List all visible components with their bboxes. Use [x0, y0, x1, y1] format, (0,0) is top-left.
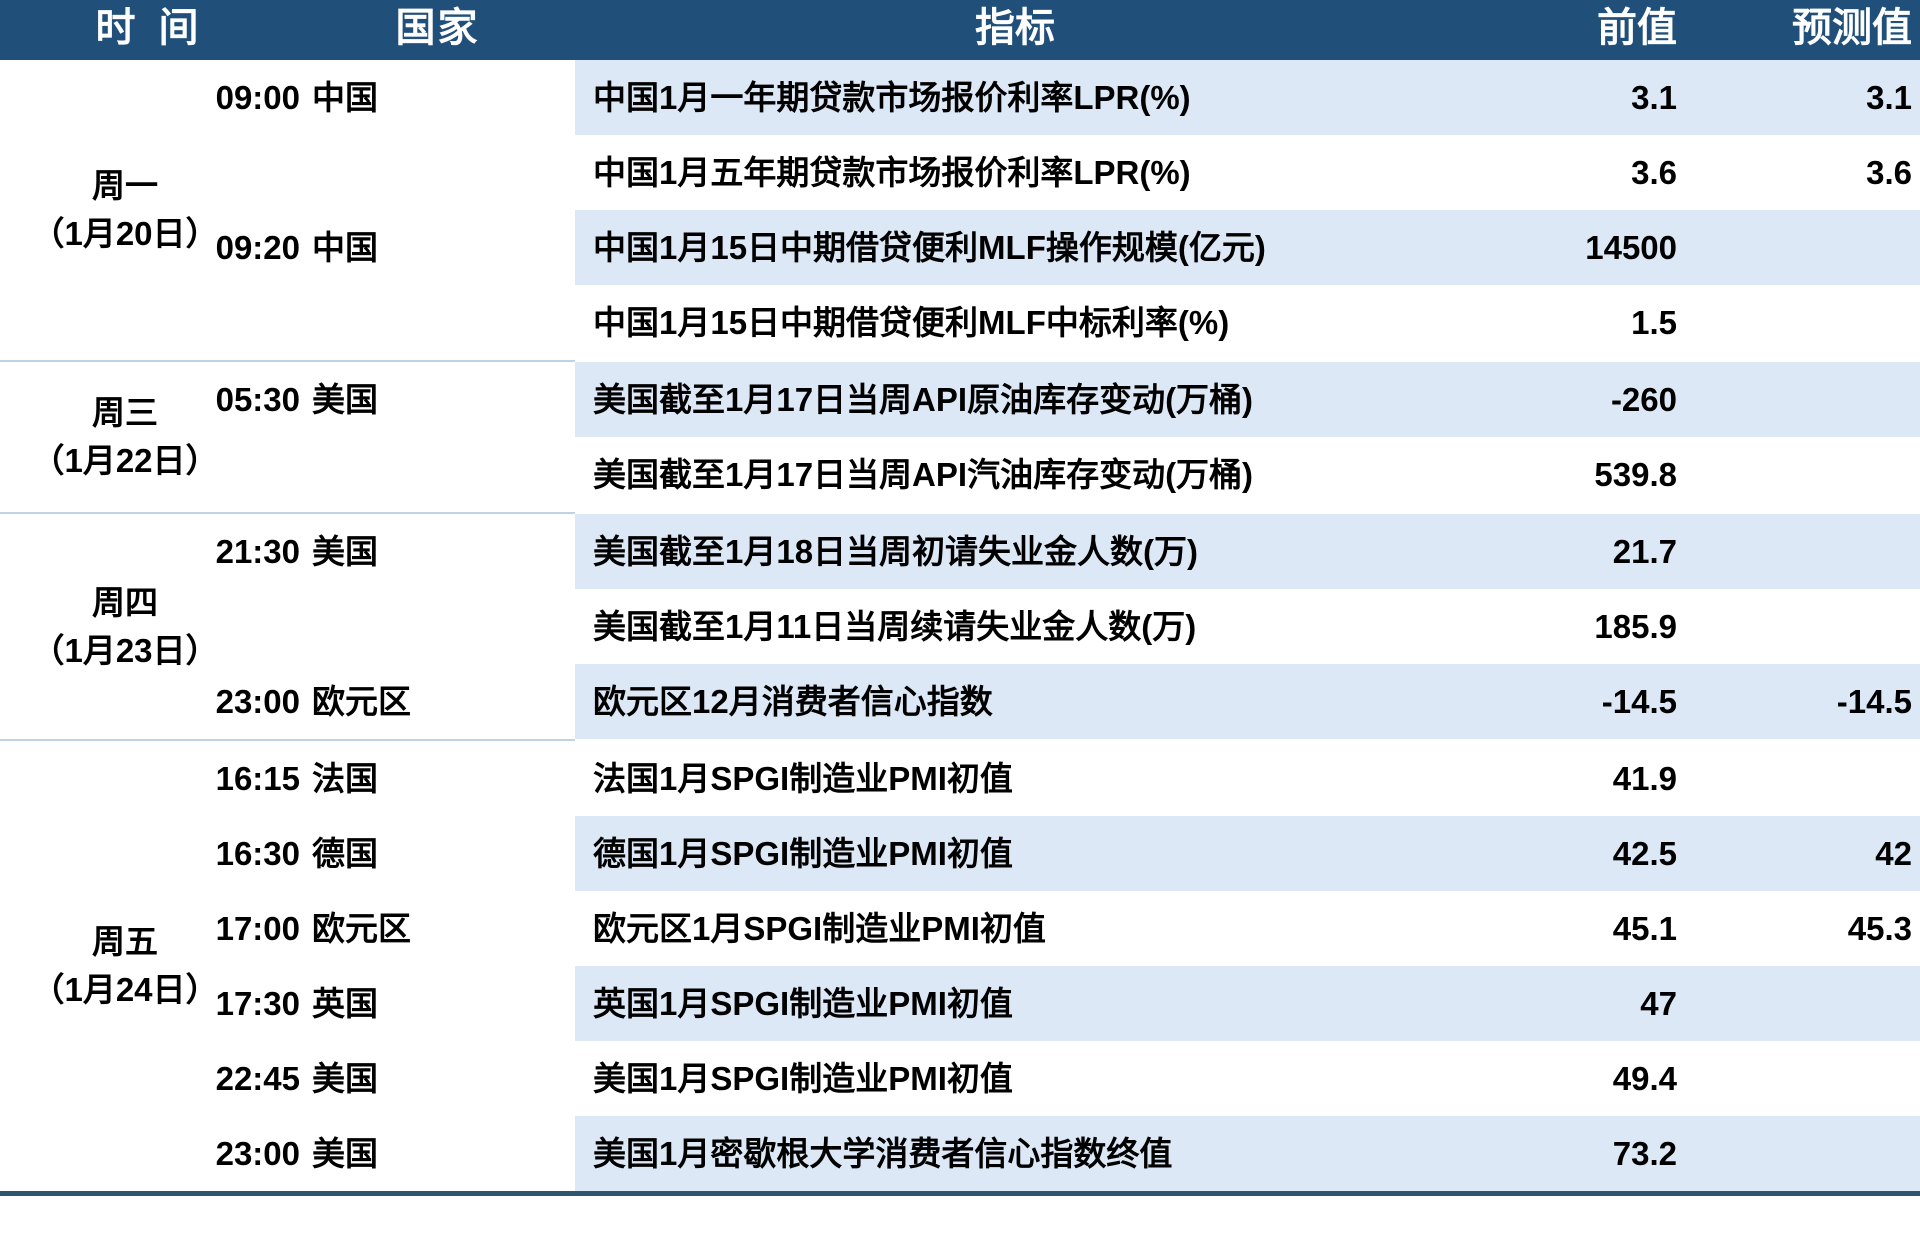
cell-forecast — [1700, 514, 1920, 589]
cell-indicator: 英国1月SPGI制造业PMI初值 — [575, 966, 1455, 1041]
cell-indicator: 美国截至1月17日当周API原油库存变动(万桶) — [575, 362, 1455, 437]
day-label: 周一（1月20日） — [0, 60, 250, 360]
table-row: 23:00美国美国1月密歇根大学消费者信心指数终值73.2 — [0, 1116, 1920, 1191]
cell-previous: 47 — [1455, 966, 1695, 1041]
cell-country — [312, 589, 462, 664]
cell-forecast: 3.1 — [1700, 60, 1920, 135]
table-row: 23:00欧元区欧元区12月消费者信心指数-14.5-14.5 — [0, 664, 1920, 739]
day-label: 周五（1月24日） — [0, 741, 250, 1191]
day-date: （1月24日） — [0, 966, 250, 1014]
table-row: 美国截至1月11日当周续请失业金人数(万)185.9 — [0, 589, 1920, 664]
day-group: 05:30美国美国截至1月17日当周API原油库存变动(万桶)-260美国截至1… — [0, 362, 1920, 512]
day-label: 周四（1月23日） — [0, 514, 250, 739]
day-weekday: 周一 — [0, 162, 250, 210]
cell-country: 欧元区 — [312, 664, 462, 739]
day-weekday: 周五 — [0, 918, 250, 966]
cell-country: 英国 — [312, 966, 462, 1041]
cell-indicator: 欧元区12月消费者信心指数 — [575, 664, 1455, 739]
cell-country: 美国 — [312, 514, 462, 589]
table-row: 09:20中国中国1月15日中期借贷便利MLF操作规模(亿元)14500 — [0, 210, 1920, 285]
cell-indicator: 德国1月SPGI制造业PMI初值 — [575, 816, 1455, 891]
cell-previous: 42.5 — [1455, 816, 1695, 891]
cell-forecast: 42 — [1700, 816, 1920, 891]
cell-previous: 21.7 — [1455, 514, 1695, 589]
cell-previous: 185.9 — [1455, 589, 1695, 664]
cell-country — [312, 285, 462, 360]
cell-previous: -14.5 — [1455, 664, 1695, 739]
day-weekday: 周四 — [0, 579, 250, 627]
table-row: 21:30美国美国截至1月18日当周初请失业金人数(万)21.7 — [0, 514, 1920, 589]
cell-previous: 73.2 — [1455, 1116, 1695, 1191]
cell-previous: 1.5 — [1455, 285, 1695, 360]
day-group: 09:00中国中国1月一年期贷款市场报价利率LPR(%)3.13.1中国1月五年… — [0, 60, 1920, 360]
cell-forecast: 3.6 — [1700, 135, 1920, 210]
cell-country: 中国 — [312, 60, 462, 135]
cell-indicator: 美国1月SPGI制造业PMI初值 — [575, 1041, 1455, 1116]
cell-previous: 14500 — [1455, 210, 1695, 285]
cell-previous: 49.4 — [1455, 1041, 1695, 1116]
day-date: （1月20日） — [0, 210, 250, 258]
cell-forecast — [1700, 966, 1920, 1041]
cell-previous: 45.1 — [1455, 891, 1695, 966]
table-header-row: 时 间 国家 指标 前值 预测值 — [0, 0, 1920, 60]
day-group: 16:15法国法国1月SPGI制造业PMI初值41.916:30德国德国1月SP… — [0, 741, 1920, 1191]
economic-calendar-table: 时 间 国家 指标 前值 预测值 09:00中国中国1月一年期贷款市场报价利率L… — [0, 0, 1920, 1196]
header-cell-previous: 前值 — [1455, 0, 1695, 60]
day-separator — [0, 739, 575, 741]
cell-previous: -260 — [1455, 362, 1695, 437]
day-date: （1月22日） — [0, 437, 250, 485]
table-row: 22:45美国美国1月SPGI制造业PMI初值49.4 — [0, 1041, 1920, 1116]
cell-indicator: 中国1月五年期贷款市场报价利率LPR(%) — [575, 135, 1455, 210]
cell-forecast: 45.3 — [1700, 891, 1920, 966]
header-cell-indicator: 指标 — [575, 0, 1455, 60]
cell-country: 欧元区 — [312, 891, 462, 966]
table-row: 17:00欧元区欧元区1月SPGI制造业PMI初值45.145.3 — [0, 891, 1920, 966]
cell-country: 美国 — [312, 1116, 462, 1191]
table-bottom-border — [0, 1191, 1920, 1196]
day-separator — [0, 360, 575, 362]
header-cell-forecast: 预测值 — [1700, 0, 1920, 60]
cell-previous: 41.9 — [1455, 741, 1695, 816]
cell-indicator: 美国截至1月18日当周初请失业金人数(万) — [575, 514, 1455, 589]
cell-country: 美国 — [312, 1041, 462, 1116]
cell-indicator: 美国截至1月17日当周API汽油库存变动(万桶) — [575, 437, 1455, 512]
cell-forecast — [1700, 210, 1920, 285]
cell-indicator: 欧元区1月SPGI制造业PMI初值 — [575, 891, 1455, 966]
day-group: 21:30美国美国截至1月18日当周初请失业金人数(万)21.7美国截至1月11… — [0, 514, 1920, 739]
cell-indicator: 中国1月15日中期借贷便利MLF中标利率(%) — [575, 285, 1455, 360]
cell-forecast — [1700, 741, 1920, 816]
cell-country — [312, 437, 462, 512]
cell-indicator: 美国1月密歇根大学消费者信心指数终值 — [575, 1116, 1455, 1191]
cell-indicator: 中国1月15日中期借贷便利MLF操作规模(亿元) — [575, 210, 1455, 285]
day-label: 周三（1月22日） — [0, 362, 250, 512]
cell-forecast — [1700, 362, 1920, 437]
table-row: 16:15法国法国1月SPGI制造业PMI初值41.9 — [0, 741, 1920, 816]
cell-forecast — [1700, 437, 1920, 512]
header-cell-time: 时 间 — [0, 0, 300, 60]
table-body: 09:00中国中国1月一年期贷款市场报价利率LPR(%)3.13.1中国1月五年… — [0, 60, 1920, 1196]
cell-previous: 539.8 — [1455, 437, 1695, 512]
table-row: 17:30英国英国1月SPGI制造业PMI初值47 — [0, 966, 1920, 1041]
cell-country — [312, 135, 462, 210]
cell-country: 德国 — [312, 816, 462, 891]
cell-forecast — [1700, 1116, 1920, 1191]
table-row: 16:30德国德国1月SPGI制造业PMI初值42.542 — [0, 816, 1920, 891]
cell-country: 美国 — [312, 362, 462, 437]
table-row: 05:30美国美国截至1月17日当周API原油库存变动(万桶)-260 — [0, 362, 1920, 437]
table-row: 中国1月五年期贷款市场报价利率LPR(%)3.63.6 — [0, 135, 1920, 210]
cell-previous: 3.6 — [1455, 135, 1695, 210]
cell-indicator: 美国截至1月11日当周续请失业金人数(万) — [575, 589, 1455, 664]
cell-indicator: 法国1月SPGI制造业PMI初值 — [575, 741, 1455, 816]
day-date: （1月23日） — [0, 627, 250, 675]
table-row: 09:00中国中国1月一年期贷款市场报价利率LPR(%)3.13.1 — [0, 60, 1920, 135]
cell-country: 法国 — [312, 741, 462, 816]
table-row: 中国1月15日中期借贷便利MLF中标利率(%)1.5 — [0, 285, 1920, 360]
cell-forecast — [1700, 589, 1920, 664]
cell-forecast: -14.5 — [1700, 664, 1920, 739]
cell-previous: 3.1 — [1455, 60, 1695, 135]
header-cell-country: 国家 — [300, 0, 575, 60]
cell-indicator: 中国1月一年期贷款市场报价利率LPR(%) — [575, 60, 1455, 135]
table-row: 美国截至1月17日当周API汽油库存变动(万桶)539.8 — [0, 437, 1920, 512]
cell-country: 中国 — [312, 210, 462, 285]
cell-forecast — [1700, 1041, 1920, 1116]
day-separator — [0, 512, 575, 514]
day-weekday: 周三 — [0, 389, 250, 437]
cell-forecast — [1700, 285, 1920, 360]
